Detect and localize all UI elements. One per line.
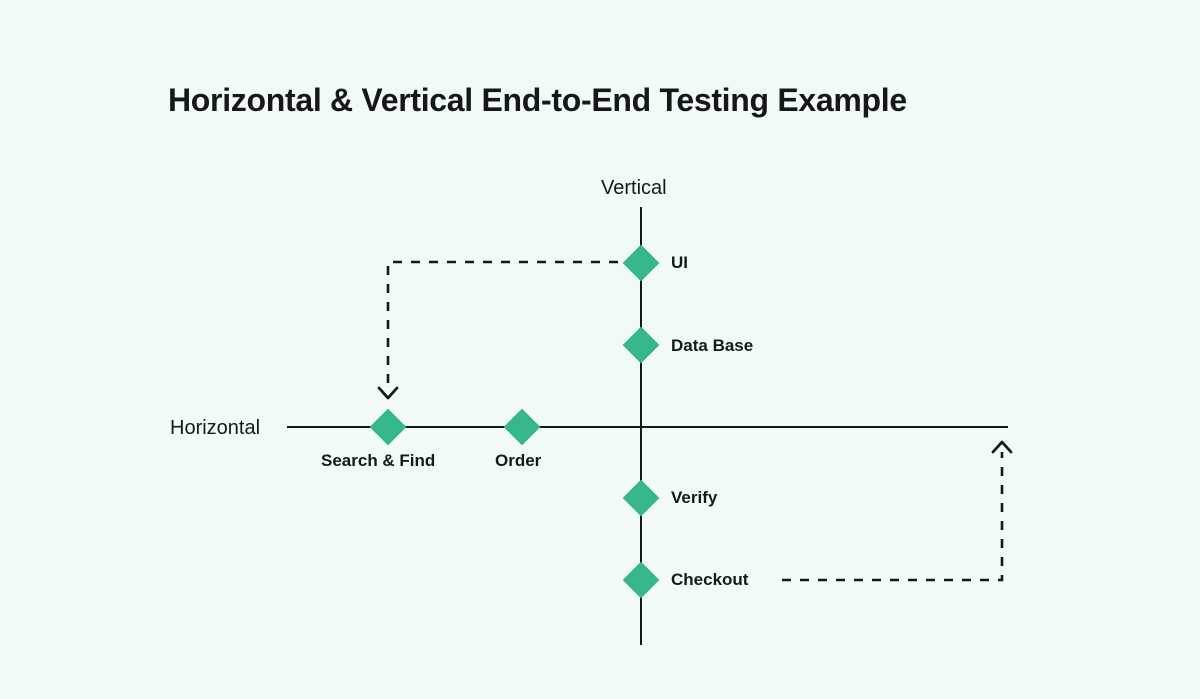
node-diamond-verify[interactable] (623, 480, 660, 517)
node-diamond-search[interactable] (370, 409, 407, 446)
connector-checkout-to-axis-end (782, 452, 1002, 580)
node-label-order: Order (495, 451, 541, 471)
node-label-search: Search & Find (321, 451, 435, 471)
axis-label-horizontal: Horizontal (170, 417, 260, 440)
node-diamond-database[interactable] (623, 327, 660, 364)
node-label-ui: UI (671, 253, 688, 273)
node-diamond-ui[interactable] (623, 245, 660, 282)
node-label-verify: Verify (671, 488, 717, 508)
chevron-up-icon (993, 442, 1011, 452)
chevron-down-icon (379, 388, 397, 398)
page-title: Horizontal & Vertical End-to-End Testing… (168, 82, 907, 119)
node-diamond-checkout[interactable] (623, 562, 660, 599)
node-label-database: Data Base (671, 336, 753, 356)
axis-label-vertical: Vertical (601, 177, 667, 200)
node-label-checkout: Checkout (671, 570, 748, 590)
connector-ui-to-search (388, 262, 618, 388)
node-diamond-order[interactable] (504, 409, 541, 446)
